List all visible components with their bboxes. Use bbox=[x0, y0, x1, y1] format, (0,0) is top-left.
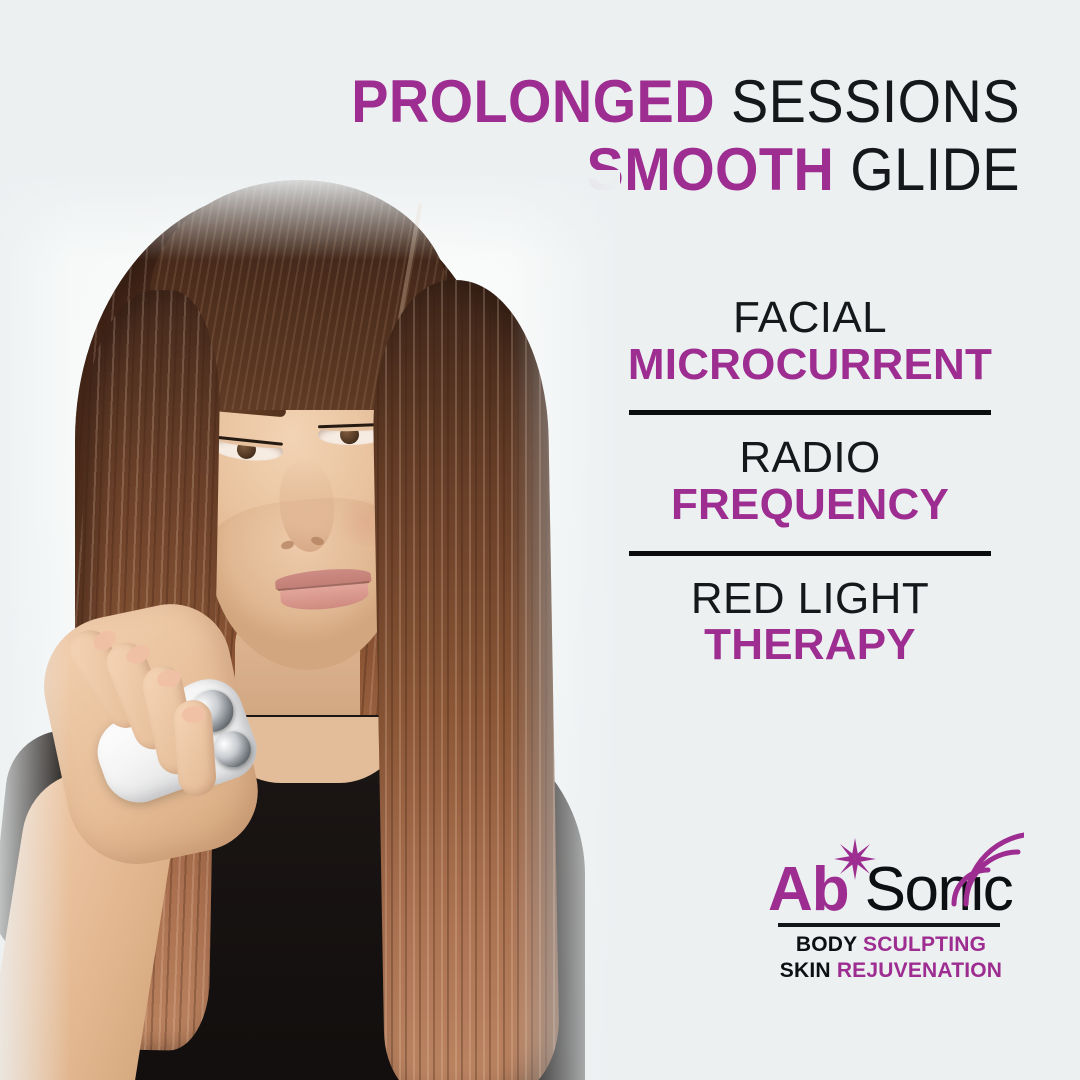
feature-bottom-label: MICROCURRENT bbox=[600, 341, 1020, 389]
feature-item-red-light: RED LIGHT THERAPY bbox=[600, 576, 1020, 669]
tagline-dark-1: BODY bbox=[796, 933, 863, 956]
feature-item-radio-frequency: RADIO FREQUENCY bbox=[600, 435, 1020, 528]
brand-logo: AbSonic BODY SCULPTING bbox=[762, 826, 1020, 994]
headline-highlight-1: PROLONGED bbox=[351, 68, 715, 135]
tagline-accent-2: REJUVENATION bbox=[837, 959, 1002, 982]
headline-rest-1: SESSIONS bbox=[715, 68, 1020, 135]
feature-top-label: RADIO bbox=[600, 435, 1020, 481]
feature-bottom-label: FREQUENCY bbox=[600, 481, 1020, 529]
model-photo bbox=[0, 170, 620, 1080]
headline-highlight-2: SMOOTH bbox=[587, 136, 835, 203]
lips bbox=[274, 566, 373, 614]
photo-fade-right bbox=[510, 170, 620, 1080]
brand-tagline: BODY SCULPTING SKIN REJUVENATION bbox=[762, 932, 1020, 984]
photo-fade-top bbox=[0, 170, 620, 260]
feature-list: FACIAL MICROCURRENT RADIO FREQUENCY RED … bbox=[600, 295, 1020, 669]
sparkle-icon bbox=[834, 838, 876, 880]
feature-top-label: FACIAL bbox=[600, 295, 1020, 341]
headline-rest-2: GLIDE bbox=[834, 136, 1020, 203]
feature-bottom-label: THERAPY bbox=[600, 621, 1020, 669]
headline-line-1: PROLONGED SESSIONS bbox=[202, 68, 1020, 136]
feature-item-microcurrent: FACIAL MICROCURRENT bbox=[600, 295, 1020, 388]
tagline-accent-1: SCULPTING bbox=[863, 933, 986, 956]
photo-fade-left bbox=[0, 170, 70, 1080]
signal-waves-icon bbox=[948, 822, 1024, 908]
feature-top-label: RED LIGHT bbox=[600, 576, 1020, 622]
logo-underline bbox=[778, 923, 1000, 927]
feature-divider-2 bbox=[629, 551, 991, 556]
tagline-line-2: SKIN REJUVENATION bbox=[762, 958, 1020, 984]
tagline-dark-2: SKIN bbox=[780, 959, 837, 982]
tagline-line-1: BODY SCULPTING bbox=[762, 932, 1020, 958]
product-feature-banner: PROLONGED SESSIONS SMOOTH GLIDE FACIAL M… bbox=[0, 0, 1080, 1080]
feature-divider-1 bbox=[629, 410, 991, 415]
